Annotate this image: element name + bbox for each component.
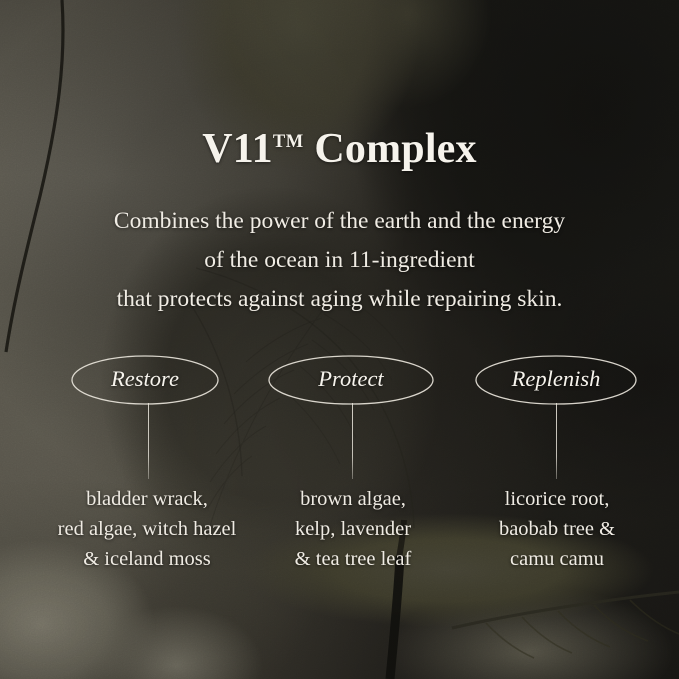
page-title: V11TM Complex: [0, 128, 679, 170]
pillar-protect: Protect: [241, 355, 461, 405]
subtitle-line: that protects against aging while repair…: [0, 280, 679, 319]
product-infographic: V11TM Complex Combines the power of the …: [0, 0, 679, 679]
trademark-symbol: TM: [273, 131, 304, 151]
connector-line-replenish: [556, 403, 557, 479]
subtitle-paragraph: Combines the power of the earth and the …: [0, 202, 679, 319]
connector-line-protect: [352, 403, 353, 479]
subtitle-line: of the ocean in 11-ingredient: [0, 241, 679, 280]
subtitle-line: Combines the power of the earth and the …: [0, 202, 679, 241]
infographic-content: V11TM Complex Combines the power of the …: [0, 0, 679, 679]
connector-line-restore: [148, 403, 149, 479]
ingredient-line: licorice root,: [432, 484, 679, 514]
badge-label: Protect: [318, 368, 383, 393]
page-title-main: V11: [202, 126, 273, 172]
badge-protect: Protect: [241, 355, 461, 405]
pillar-replenish: Replenish: [446, 355, 666, 405]
badge-restore: Restore: [35, 355, 255, 405]
ingredient-line: camu camu: [432, 544, 679, 574]
ingredient-list-replenish: licorice root, baobab tree & camu camu: [432, 484, 679, 574]
badge-replenish: Replenish: [446, 355, 666, 405]
page-title-suffix: Complex: [304, 126, 477, 172]
badge-label: Replenish: [512, 368, 601, 393]
ingredient-line: baobab tree &: [432, 514, 679, 544]
badge-label: Restore: [111, 368, 179, 393]
pillar-restore: Restore: [35, 355, 255, 405]
